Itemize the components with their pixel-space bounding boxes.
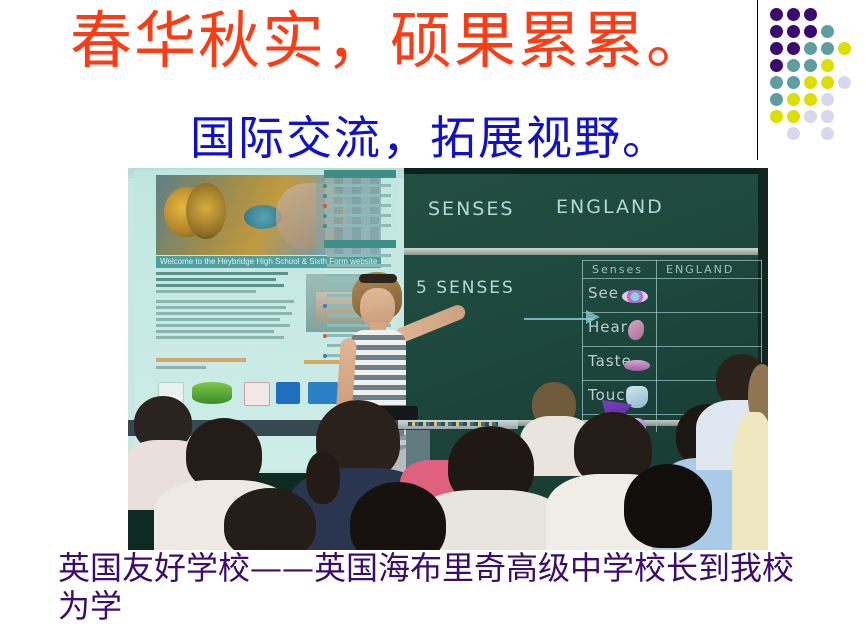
dot-yellow xyxy=(770,110,783,123)
dot-teal xyxy=(787,59,800,72)
caption-line-1: 英国友好学校——英国海布里奇高级中学校长到我校为学 xyxy=(58,549,794,625)
dot-purple xyxy=(804,25,817,38)
page-title: 春华秋实，硕果累累。 xyxy=(70,6,770,78)
photo-caption: 英国友好学校——英国海布里奇高级中学校长到我校为学 生上课 xyxy=(58,549,818,627)
dot-lavender xyxy=(838,76,851,89)
dot-teal xyxy=(804,42,817,55)
dot-teal xyxy=(770,93,783,106)
chalk-table-header-senses: Senses xyxy=(592,263,643,276)
partner-logo xyxy=(192,382,232,404)
dot-yellow xyxy=(821,76,834,89)
dot-teal xyxy=(821,25,834,38)
blackboard-top-frame xyxy=(404,168,768,174)
website-presenter-role xyxy=(156,366,206,369)
dot-grid-decoration xyxy=(770,8,862,138)
dot-lavender xyxy=(787,127,800,140)
chalk-topic-5senses: 5 SENSES xyxy=(416,278,515,298)
sunglasses-icon xyxy=(359,274,397,283)
dot-purple xyxy=(770,42,783,55)
dot-purple xyxy=(787,8,800,21)
vertical-divider xyxy=(757,0,758,160)
page-subtitle: 国际交流，拓展视野。 xyxy=(190,110,750,170)
dot-teal xyxy=(770,76,783,89)
hero-ring2-shape xyxy=(186,183,226,239)
partner-logo xyxy=(244,382,270,406)
chalk-table-row-hear: Hear xyxy=(588,318,628,336)
slide-canvas: 春华秋实，硕果累累。 国际交流，拓展视野。 Welcome to the Hey… xyxy=(0,0,866,627)
partner-logo xyxy=(276,382,300,404)
dot-purple xyxy=(787,25,800,38)
blackboard-rail-upper xyxy=(404,248,768,255)
dot-lavender xyxy=(804,110,817,123)
website-presenter-name xyxy=(156,358,246,362)
dot-yellow xyxy=(787,93,800,106)
ear-icon xyxy=(628,320,644,340)
dot-yellow xyxy=(804,93,817,106)
dot-yellow xyxy=(821,59,834,72)
dot-lavender xyxy=(821,127,834,140)
dot-purple xyxy=(804,8,817,21)
chalk-heading-england: ENGLAND xyxy=(556,196,664,218)
dot-purple xyxy=(770,25,783,38)
dot-purple xyxy=(787,42,800,55)
dot-yellow xyxy=(787,110,800,123)
chalk-table-row-see: See xyxy=(588,284,619,302)
lips-icon xyxy=(624,360,650,371)
dot-teal xyxy=(787,76,800,89)
dot-purple xyxy=(770,59,783,72)
dot-teal xyxy=(804,59,817,72)
dot-yellow xyxy=(838,42,851,55)
classroom-photo: Welcome to the Heybridge High School & S… xyxy=(128,168,768,550)
dot-yellow xyxy=(804,76,817,89)
dot-teal xyxy=(821,42,834,55)
dot-lavender xyxy=(821,93,834,106)
eye-icon xyxy=(622,290,648,303)
chalk-table-header-england: ENGLAND xyxy=(666,263,734,276)
website-body-text xyxy=(156,272,301,352)
chalk-heading-senses: SENSES xyxy=(428,198,514,220)
dot-lavender xyxy=(821,110,834,123)
dot-purple xyxy=(770,8,783,21)
